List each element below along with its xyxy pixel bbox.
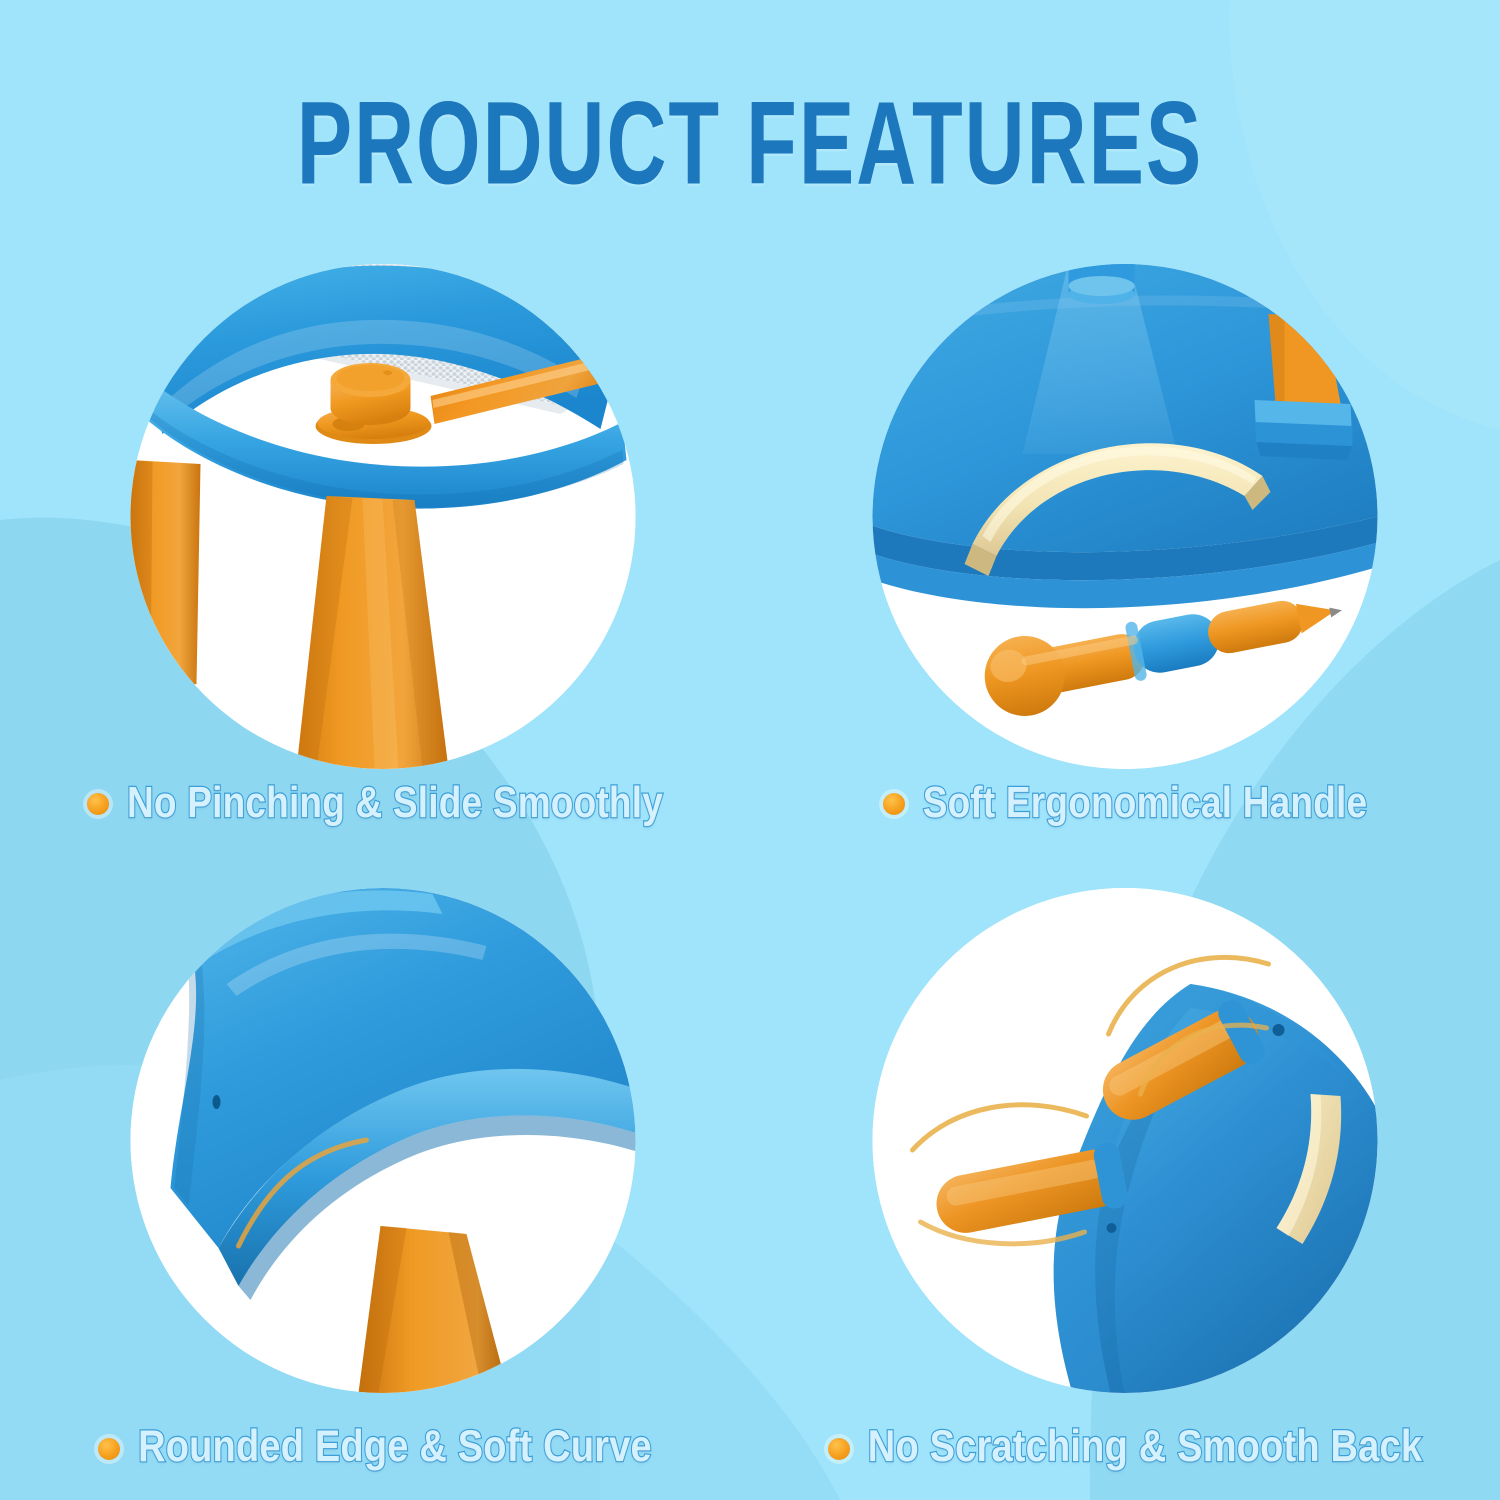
photo-illustration-rounded-edge bbox=[130, 888, 635, 1393]
feature-photo-rounded-edge bbox=[130, 888, 635, 1393]
photo-illustration-handle-pen bbox=[873, 264, 1378, 769]
feature-photo-no-pinching bbox=[130, 264, 635, 769]
feature-caption-text: Soft Ergonomical Handle bbox=[923, 778, 1368, 828]
orange-dot-bullet-icon bbox=[98, 1438, 120, 1460]
photo-illustration-table-knob bbox=[130, 264, 635, 769]
feature-caption-row: No Pinching & Slide Smoothly bbox=[0, 782, 750, 824]
feature-caption-text: No Scratching & Smooth Back bbox=[868, 1422, 1422, 1473]
feature-grid: No Pinching & Slide Smoothly bbox=[0, 258, 1500, 1498]
orange-dot-bullet-icon bbox=[87, 793, 109, 815]
photo-illustration-smooth-back-feet bbox=[873, 888, 1378, 1393]
feature-photo-soft-handle bbox=[873, 264, 1378, 769]
feature-card-no-pinching: No Pinching & Slide Smoothly bbox=[0, 258, 750, 878]
feature-caption-row: No Scratching & Smooth Back bbox=[750, 1426, 1500, 1469]
page-title: PRODUCT FEATURES bbox=[297, 84, 1204, 202]
feature-caption-text: Rounded Edge & Soft Curve bbox=[138, 1422, 652, 1473]
orange-dot-bullet-icon bbox=[828, 1438, 850, 1460]
feature-card-soft-handle: Soft Ergonomical Handle bbox=[750, 258, 1500, 878]
feature-caption-row: Rounded Edge & Soft Curve bbox=[0, 1426, 750, 1469]
page-title-wrapper: PRODUCT FEATURES bbox=[0, 84, 1500, 167]
feature-card-rounded-edge: Rounded Edge & Soft Curve bbox=[0, 870, 750, 1490]
orange-dot-bullet-icon bbox=[883, 793, 905, 815]
feature-caption-text: No Pinching & Slide Smoothly bbox=[127, 778, 663, 828]
feature-card-smooth-back: No Scratching & Smooth Back bbox=[750, 870, 1500, 1490]
feature-photo-smooth-back bbox=[873, 888, 1378, 1393]
feature-caption-row: Soft Ergonomical Handle bbox=[750, 782, 1500, 824]
